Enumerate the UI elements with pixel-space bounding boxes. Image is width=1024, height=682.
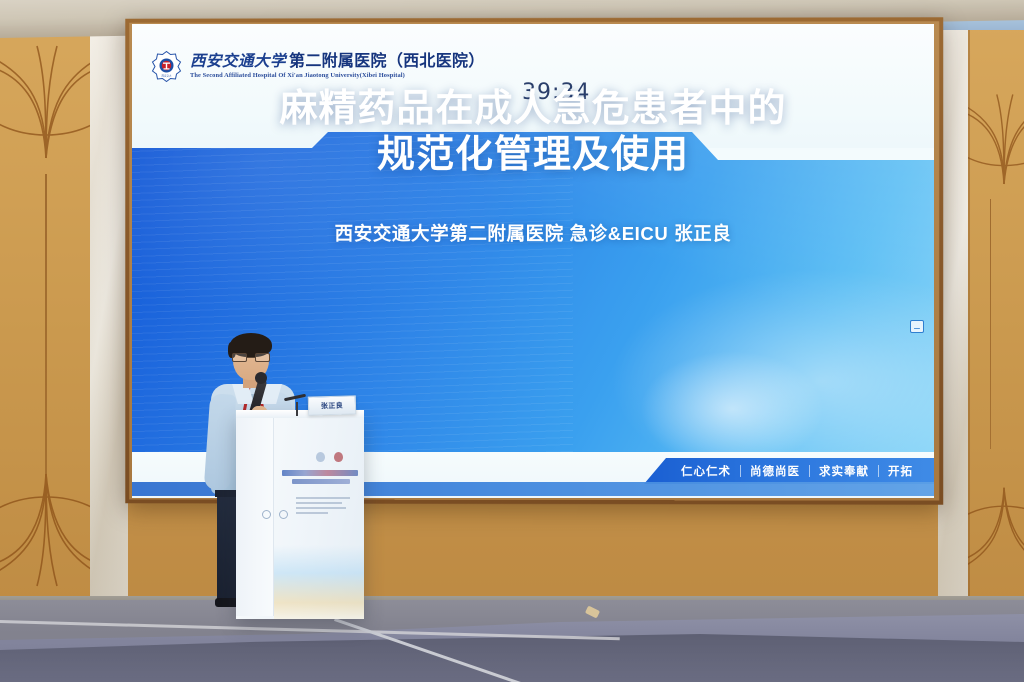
minimize-badge-icon[interactable]: ⚊ bbox=[910, 320, 924, 333]
desk-microphone-stand bbox=[296, 402, 298, 416]
slide-title-line-2: 规范化管理及使用 bbox=[132, 132, 934, 178]
motto-item-2: 尚德尚医 bbox=[741, 463, 809, 479]
speaker-nameplate-text: 张正良 bbox=[321, 400, 343, 411]
podium-event-title-line-1 bbox=[282, 470, 358, 476]
podium-event-details bbox=[296, 497, 350, 517]
motto-item-1: 仁心仁术 bbox=[672, 463, 740, 479]
motto-item-4: 开拓 bbox=[879, 463, 922, 479]
wall-panel-left-1 bbox=[0, 24, 92, 604]
slide-title: 麻精药品在成人急危患者中的 规范化管理及使用 bbox=[132, 86, 934, 179]
university-name-cn: 西安交通大学 bbox=[190, 53, 286, 69]
svg-text:西安交大: 西安交大 bbox=[161, 74, 172, 78]
projector-hotspot bbox=[637, 349, 827, 469]
conference-hall-scene: 西安交大 西安交通大学 第二附属医院（西北医院） The Second Affi… bbox=[0, 0, 1024, 682]
slide-title-line-1: 麻精药品在成人急危患者中的 bbox=[279, 88, 786, 130]
hospital-name-cn: 第二附属医院（西北医院） bbox=[289, 54, 485, 70]
motto-ribbon: 仁心仁术 尚德尚医 求实奉献 开拓 bbox=[644, 458, 934, 484]
podium-event-title-line-2 bbox=[292, 479, 350, 484]
fan-ornament-icon bbox=[968, 84, 1024, 204]
slide-subtitle: 西安交通大学第二附属医院 急诊&EICU 张正良 bbox=[132, 220, 934, 246]
hospital-branding: 西安交大 西安交通大学 第二附属医院（西北医院） The Second Affi… bbox=[150, 50, 485, 83]
podium-emblems bbox=[316, 452, 343, 462]
university-hospital-emblem-icon: 西安交大 bbox=[150, 50, 183, 83]
glasses-icon bbox=[232, 353, 270, 362]
podium-footer-logos bbox=[262, 510, 288, 519]
podium-graphic-wash bbox=[274, 545, 364, 619]
speaker-nameplate: 张正良 bbox=[308, 395, 356, 415]
fan-ornament-icon bbox=[0, 468, 92, 598]
fan-ornament-icon bbox=[0, 38, 92, 178]
marble-column-left bbox=[90, 18, 128, 618]
wall-panel-right-1 bbox=[968, 24, 1024, 604]
microphone-head-icon bbox=[255, 372, 267, 384]
motto-item-3: 求实奉献 bbox=[810, 463, 878, 479]
fan-ornament-icon bbox=[968, 480, 1024, 590]
hospital-name-en: The Second Affiliated Hospital Of Xi'an … bbox=[190, 73, 485, 79]
